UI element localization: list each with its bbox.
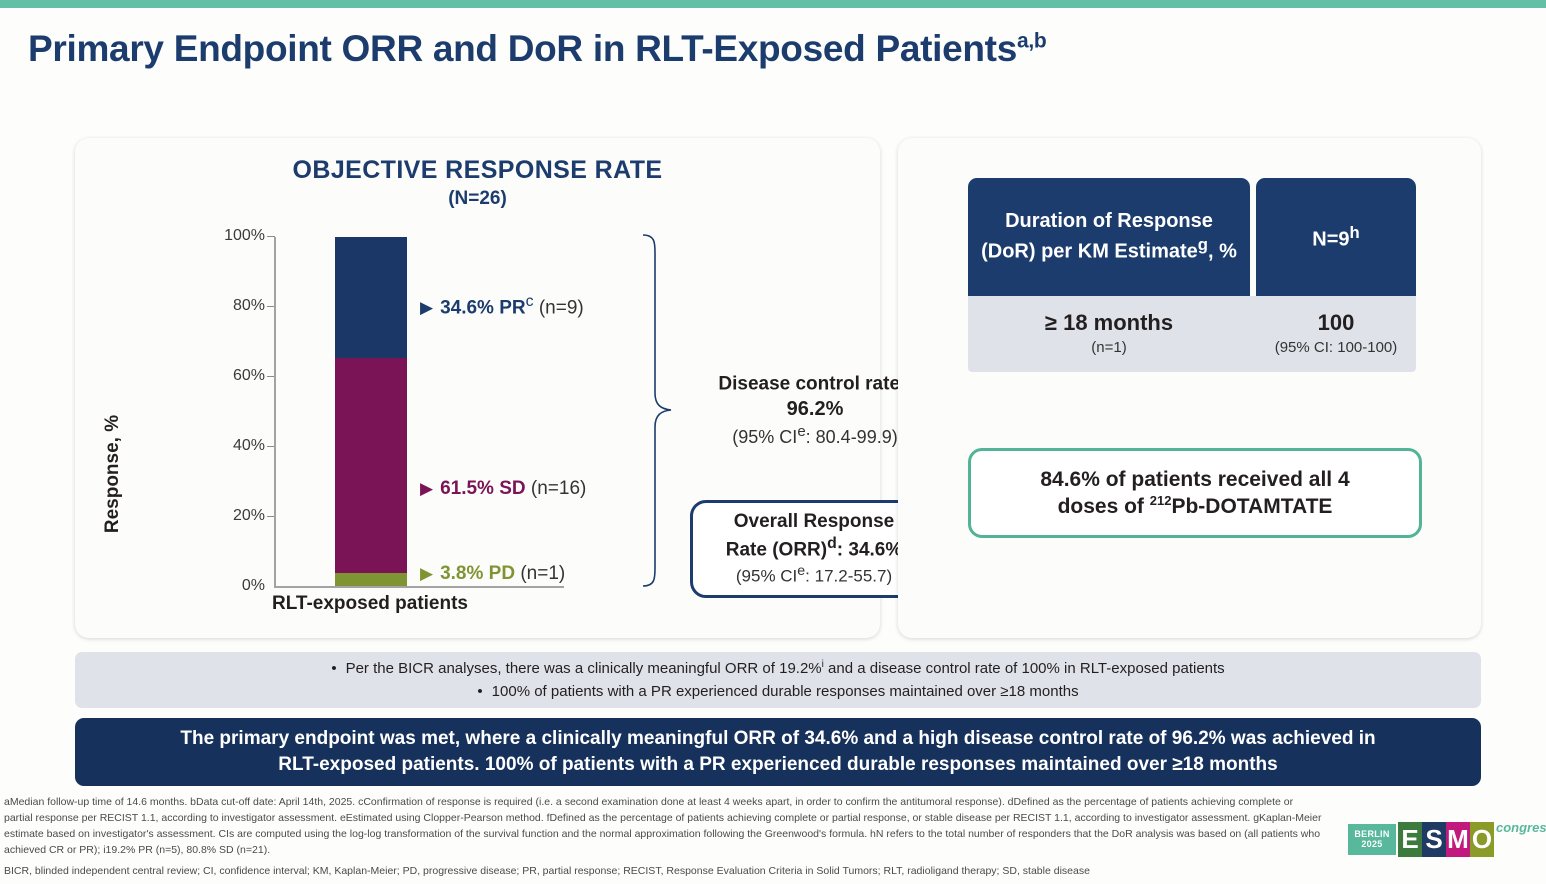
triangle-right-icon: ▶ [420,298,433,317]
callout-sd-count: (n=16) [531,478,586,499]
conclusion-line1: The primary endpoint was met, where a cl… [180,726,1375,752]
list-item: •Per the BICR analyses, there was a clin… [331,657,1224,681]
footnotes-abbreviations: BICR, blinded independent central review… [4,864,1324,880]
dor-header-n-superscript: h [1350,223,1360,242]
logo-esmo-letters: E S M O [1398,822,1494,857]
logo-congress-text: congress [1496,820,1546,835]
chart-subtitle: (N=26) [75,188,880,210]
dor-row-value-cell: 100 (95% CI: 100-100) [1256,296,1416,372]
dor-row-label: ≥ 18 months [968,310,1250,336]
y-axis-line [274,237,276,587]
bullet-dot-icon: • [477,683,482,700]
triangle-right-icon: ▶ [420,564,433,583]
logo-berlin-badge: BERLIN 2025 [1348,824,1396,855]
bullet-2-pre: 100% of patients with a PR experienced d… [492,683,1079,700]
logo-letter-e: E [1398,822,1422,857]
dose-callout-line1: 84.6% of patients received all 4 [1040,466,1349,493]
dor-table: Duration of Response (DoR) per KM Estima… [968,178,1416,372]
callout-pd-count: (n=1) [520,563,565,584]
bullet-1-post: and a disease control rate of 100% in RL… [824,660,1225,677]
dcr-label: Disease control rate [718,373,900,394]
callout-sd: ▶61.5% SD (n=16) [420,478,586,500]
logo-letter-s: S [1422,822,1446,857]
table-row: ≥ 18 months (n=1) 100 (95% CI: 100-100) [968,296,1416,372]
page-title-superscript: a,b [1017,30,1046,53]
dor-table-header-row: Duration of Response (DoR) per KM Estima… [968,178,1416,296]
orr-ci-tail: : 17.2-55.7) [805,567,892,586]
dose-callout-isotope: 212 [1150,493,1172,508]
footnotes: aMedian follow-up time of 14.6 months. b… [4,795,1324,880]
logo-letter-m: M [1446,822,1470,857]
logo-letter-o: O [1470,822,1494,857]
x-axis-line [274,586,564,588]
dor-header-n-text: N=9 [1312,228,1349,250]
dose-completion-callout: 84.6% of patients received all 4 doses o… [968,448,1422,538]
y-tick-100: 100% [195,227,265,245]
bullets-band: •Per the BICR analyses, there was a clin… [75,652,1481,708]
footnotes-body: aMedian follow-up time of 14.6 months. b… [4,795,1324,859]
bar-segment-sd [335,358,407,573]
y-tick-80: 80% [195,297,265,315]
dor-header-metric-text: Duration of Response (DoR) per KM Estima… [981,210,1213,263]
triangle-right-icon: ▶ [420,479,433,498]
callout-sd-label: 61.5% SD [440,478,526,499]
y-tick-20: 20% [195,507,265,525]
logo-berlin-line1: BERLIN [1354,829,1389,839]
y-axis-label: Response, % [102,374,124,574]
list-item: •100% of patients with a PR experienced … [477,681,1078,704]
dor-row-value-ci: (95% CI: 100-100) [1256,339,1416,356]
callout-pd-label: 3.8% PD [440,563,515,584]
esmo-congress-logo: BERLIN 2025 E S M O congress [1348,818,1528,864]
page-title-text: Primary Endpoint ORR and DoR in RLT-Expo… [28,28,1017,69]
dor-header-metric-tail: , % [1208,241,1237,263]
dor-row-label-cell: ≥ 18 months (n=1) [968,296,1250,372]
dor-header-metric-superscript: g [1198,235,1208,254]
dose-callout-line2-post: Pb-DOTAMTATE [1171,495,1332,518]
orr-ci-superscript: e [797,563,805,579]
orr-line2-value: : 34.6% [837,539,902,560]
dor-header-n: N=9h [1256,178,1416,296]
x-category-label: RLT-exposed patients [210,593,530,615]
dor-row-sublabel: (n=1) [968,339,1250,356]
conclusion-banner: The primary endpoint was met, where a cl… [75,718,1481,786]
callout-pr-count: (n=9) [539,297,584,318]
orr-line1: Overall Response [734,510,895,533]
callout-pr-label: 34.6% PR [440,297,526,318]
orr-ci-pre: (95% CI [736,567,797,586]
callout-pr-superscript: c [526,293,534,310]
top-accent-bar [0,0,1546,8]
dor-header-metric: Duration of Response (DoR) per KM Estima… [968,178,1250,296]
dcr-ci-pre: (95% CI [732,427,797,447]
bar-segment-pd [335,573,407,586]
orr-line2-superscript: d [827,535,837,552]
orr-line2-label: Rate (ORR) [726,539,827,560]
dcr-ci-superscript: e [797,423,805,440]
bullet-1-pre: Per the BICR analyses, there was a clini… [346,660,822,677]
page-title: Primary Endpoint ORR and DoR in RLT-Expo… [28,28,1328,70]
bullet-dot-icon: • [331,660,336,677]
dor-panel: Duration of Response (DoR) per KM Estima… [898,138,1481,638]
conclusion-line2: RLT-exposed patients. 100% of patients w… [278,752,1277,778]
dor-row-value: 100 [1256,310,1416,336]
callout-pd: ▶3.8% PD (n=1) [420,563,565,585]
chart-title: OBJECTIVE RESPONSE RATE [75,156,880,185]
y-tick-60: 60% [195,367,265,385]
logo-berlin-line2: 2025 [1361,839,1382,849]
y-tick-40: 40% [195,437,265,455]
dose-callout-line2-pre: doses of [1058,495,1150,518]
bar-segment-pr [335,237,407,358]
callout-pr: ▶34.6% PRc (n=9) [420,293,584,319]
orr-chart-panel: OBJECTIVE RESPONSE RATE (N=26) Response,… [75,138,880,638]
dcr-ci-tail: : 80.4-99.9) [806,427,898,447]
